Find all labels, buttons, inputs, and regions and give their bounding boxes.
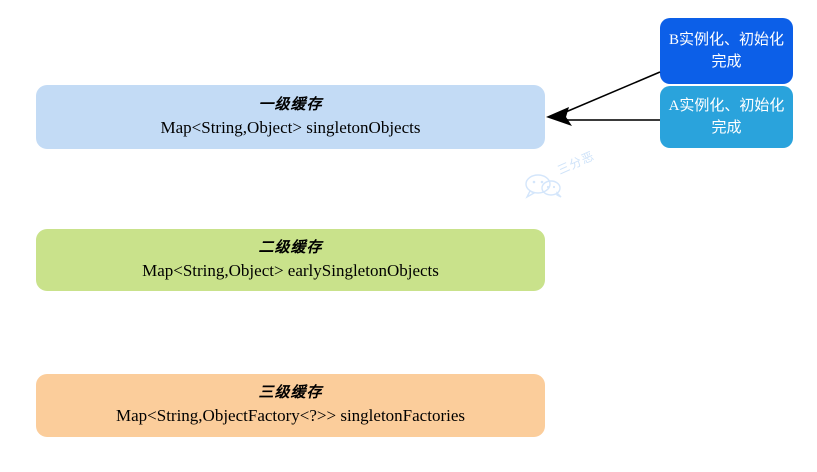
level-2-cache-subtitle: Map<String,Object> earlySingletonObjects <box>142 259 439 283</box>
level-3-cache-subtitle: Map<String,ObjectFactory<?>> singletonFa… <box>116 404 465 428</box>
level-3-cache-box: 三级缓存 Map<String,ObjectFactory<?>> single… <box>36 374 545 437</box>
level-2-cache-title: 二级缓存 <box>258 238 322 258</box>
callout-b-box: B实例化、初始化完成 <box>660 18 793 84</box>
watermark: 三分恶 <box>518 160 622 202</box>
arrowhead-icon <box>546 107 572 126</box>
callout-a-label: A实例化、初始化完成 <box>668 95 785 139</box>
callout-a-box: A实例化、初始化完成 <box>660 86 793 148</box>
level-3-cache-title: 三级缓存 <box>258 383 322 403</box>
level-1-cache-box: 一级缓存 Map<String,Object> singletonObjects <box>36 85 545 149</box>
level-1-cache-title: 一级缓存 <box>258 95 322 115</box>
diagram-canvas: 一级缓存 Map<String,Object> singletonObjects… <box>0 0 817 472</box>
callout-b-label: B实例化、初始化完成 <box>668 29 785 73</box>
level-1-cache-subtitle: Map<String,Object> singletonObjects <box>161 116 421 140</box>
level-2-cache-box: 二级缓存 Map<String,Object> earlySingletonOb… <box>36 229 545 291</box>
arrow-b-to-level-1 <box>561 72 660 114</box>
